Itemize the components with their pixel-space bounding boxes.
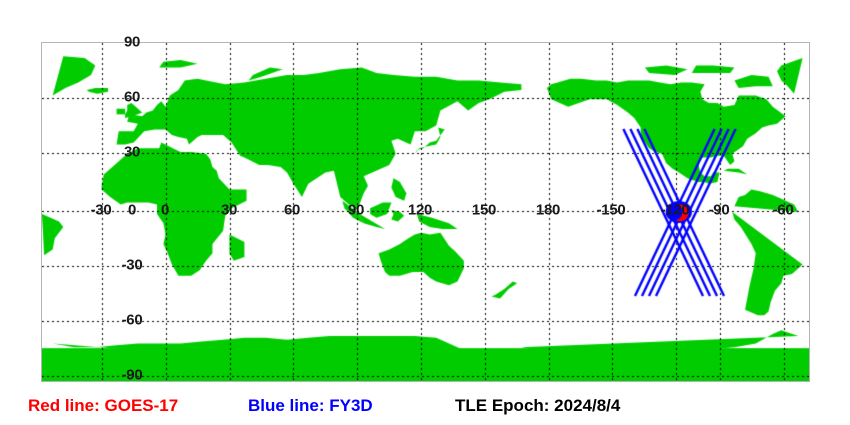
longitude-tick--120: -120: [661, 203, 690, 218]
latitude-tick-0: 0: [128, 203, 136, 218]
longitude-tick-60: 60: [284, 203, 300, 218]
legend-red-line-goes17: Red line: GOES-17: [28, 397, 178, 414]
latitude-tick--90: -90: [122, 368, 143, 383]
latitude-tick--60: -60: [122, 313, 143, 328]
longitude-tick-180: 180: [536, 203, 560, 218]
latitude-tick-90: 90: [124, 35, 140, 50]
legend-caption: Red line: GOES-17 Blue line: FY3D TLE Ep…: [0, 394, 850, 422]
longitude-tick-0: 0: [161, 203, 169, 218]
longitude-tick-150: 150: [472, 203, 496, 218]
satellite-ground-track-map: -300306090120150180-150-120-90-609060300…: [0, 0, 850, 425]
longitude-tick-30: 30: [221, 203, 237, 218]
legend-blue-line-fy3d: Blue line: FY3D: [248, 397, 373, 414]
latitude-tick--30: -30: [122, 258, 143, 273]
longitude-tick--30: -30: [91, 203, 112, 218]
longitude-tick--60: -60: [773, 203, 794, 218]
legend-tle-epoch: TLE Epoch: 2024/8/4: [455, 397, 620, 414]
latitude-tick-30: 30: [124, 145, 140, 160]
longitude-tick-90: 90: [348, 203, 364, 218]
latitude-tick-60: 60: [124, 90, 140, 105]
longitude-tick-120: 120: [408, 203, 432, 218]
longitude-tick--90: -90: [709, 203, 730, 218]
longitude-tick--150: -150: [597, 203, 626, 218]
